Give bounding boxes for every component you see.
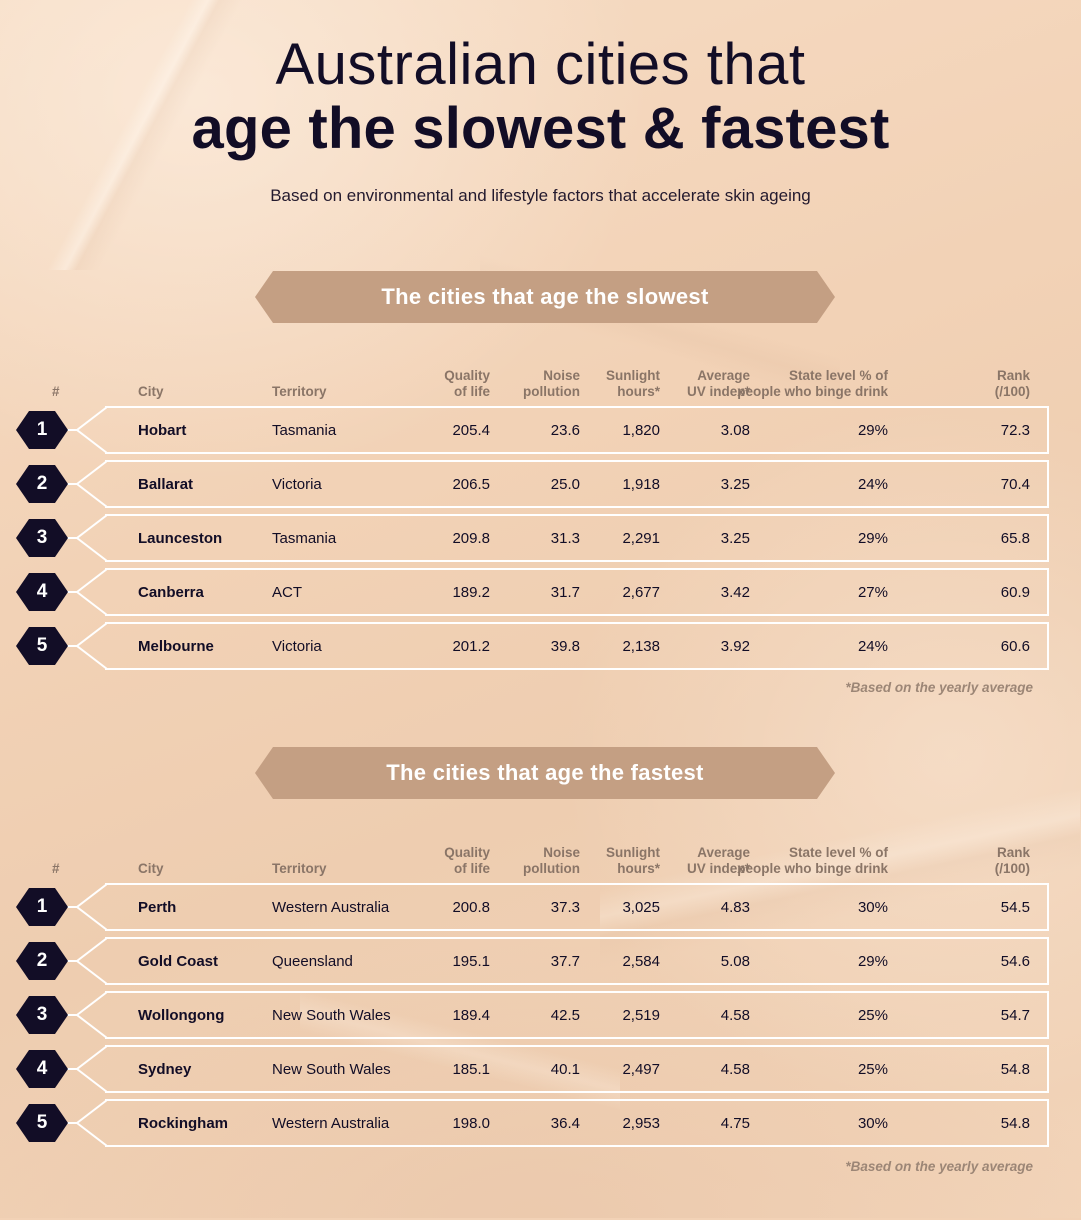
table-row[interactable]: 3WollongongNew South Wales189.442.52,519…	[0, 991, 1081, 1039]
cell-quality-of-life: 209.8	[400, 514, 490, 562]
cell-noise-pollution: 40.1	[490, 1045, 580, 1093]
cell-quality-of-life: 206.5	[400, 460, 490, 508]
cell-quality-of-life: 205.4	[400, 406, 490, 454]
column-header-binge-drink: State level % of people who binge drink	[730, 368, 888, 400]
cell-binge-drink: 25%	[760, 991, 888, 1039]
table-row[interactable]: 4SydneyNew South Wales185.140.12,4974.58…	[0, 1045, 1081, 1093]
cell-city: Canberra	[138, 568, 278, 616]
cell-rank-score: 65.8	[900, 514, 1030, 562]
cell-sunlight-hours: 2,519	[580, 991, 660, 1039]
column-header-sunlight-hours: Sunlight hours*	[580, 845, 660, 877]
cell-average-uv-index: 3.42	[662, 568, 750, 616]
row-chevron-icon	[75, 460, 107, 508]
table-row[interactable]: 5MelbourneVictoria201.239.82,1383.9224%6…	[0, 622, 1081, 670]
cell-sunlight-hours: 1,918	[580, 460, 660, 508]
cell-binge-drink: 29%	[760, 937, 888, 985]
cell-noise-pollution: 31.3	[490, 514, 580, 562]
cell-rank-score: 54.5	[900, 883, 1030, 931]
cell-sunlight-hours: 2,497	[580, 1045, 660, 1093]
column-header-binge-drink: State level % of people who binge drink	[730, 845, 888, 877]
column-header-rank-score: Rank (/100)	[900, 845, 1030, 877]
table-fastest: # City Territory Quality of life Noise p…	[0, 835, 1081, 1153]
row-chevron-icon	[75, 991, 107, 1039]
cell-sunlight-hours: 2,953	[580, 1099, 660, 1147]
column-header-city: City	[138, 384, 258, 400]
page-title: Australian cities that age the slowest &…	[0, 33, 1081, 161]
table-footnote: *Based on the yearly average	[845, 1159, 1033, 1174]
cell-noise-pollution: 23.6	[490, 406, 580, 454]
rank-badge: 5	[16, 1104, 68, 1142]
cell-city: Gold Coast	[138, 937, 278, 985]
cell-quality-of-life: 189.4	[400, 991, 490, 1039]
cell-noise-pollution: 36.4	[490, 1099, 580, 1147]
cell-average-uv-index: 4.58	[662, 1045, 750, 1093]
cell-rank-score: 72.3	[900, 406, 1030, 454]
cell-average-uv-index: 3.25	[662, 514, 750, 562]
table-row[interactable]: 5RockinghamWestern Australia198.036.42,9…	[0, 1099, 1081, 1147]
column-header-noise-pollution: Noise pollution	[490, 845, 580, 877]
table-row[interactable]: 1PerthWestern Australia200.837.33,0254.8…	[0, 883, 1081, 931]
cell-sunlight-hours: 1,820	[580, 406, 660, 454]
section-banner-label: The cities that age the fastest	[386, 760, 703, 786]
cell-average-uv-index: 5.08	[662, 937, 750, 985]
rank-badge: 4	[16, 573, 68, 611]
column-header-city: City	[138, 861, 258, 877]
cell-city: Perth	[138, 883, 278, 931]
rank-badge: 1	[16, 411, 68, 449]
cell-sunlight-hours: 2,291	[580, 514, 660, 562]
cell-sunlight-hours: 2,584	[580, 937, 660, 985]
cell-city: Launceston	[138, 514, 278, 562]
cell-noise-pollution: 25.0	[490, 460, 580, 508]
table-header-row: # City Territory Quality of life Noise p…	[0, 358, 1081, 400]
title-line-1: Australian cities that	[0, 33, 1081, 97]
cell-binge-drink: 24%	[760, 622, 888, 670]
row-chevron-icon	[75, 568, 107, 616]
section-banner-slowest: The cities that age the slowest	[255, 271, 835, 323]
row-chevron-icon	[75, 937, 107, 985]
rank-badge: 5	[16, 627, 68, 665]
cell-city: Wollongong	[138, 991, 278, 1039]
infographic: Australian cities that age the slowest &…	[0, 0, 1081, 1218]
cell-rank-score: 54.7	[900, 991, 1030, 1039]
section-banner-label: The cities that age the slowest	[381, 284, 708, 310]
row-chevron-icon	[75, 1045, 107, 1093]
column-header-rank: #	[52, 384, 82, 400]
table-row[interactable]: 1HobartTasmania205.423.61,8203.0829%72.3	[0, 406, 1081, 454]
table-row[interactable]: 3LauncestonTasmania209.831.32,2913.2529%…	[0, 514, 1081, 562]
cell-quality-of-life: 198.0	[400, 1099, 490, 1147]
cell-average-uv-index: 4.58	[662, 991, 750, 1039]
table-slowest: # City Territory Quality of life Noise p…	[0, 358, 1081, 676]
cell-quality-of-life: 200.8	[400, 883, 490, 931]
row-chevron-icon	[75, 406, 107, 454]
cell-sunlight-hours: 2,677	[580, 568, 660, 616]
cell-sunlight-hours: 2,138	[580, 622, 660, 670]
title-line-2: age the slowest & fastest	[0, 97, 1081, 161]
row-chevron-icon	[75, 622, 107, 670]
table-row[interactable]: 2Gold CoastQueensland195.137.72,5845.082…	[0, 937, 1081, 985]
rank-badge: 4	[16, 1050, 68, 1088]
column-header-rank-score: Rank (/100)	[900, 368, 1030, 400]
cell-binge-drink: 24%	[760, 460, 888, 508]
cell-quality-of-life: 185.1	[400, 1045, 490, 1093]
cell-average-uv-index: 4.75	[662, 1099, 750, 1147]
cell-city: Rockingham	[138, 1099, 278, 1147]
cell-rank-score: 70.4	[900, 460, 1030, 508]
row-chevron-icon	[75, 514, 107, 562]
cell-quality-of-life: 189.2	[400, 568, 490, 616]
rank-badge: 3	[16, 519, 68, 557]
cell-binge-drink: 27%	[760, 568, 888, 616]
cell-average-uv-index: 3.92	[662, 622, 750, 670]
cell-average-uv-index: 3.25	[662, 460, 750, 508]
cell-city: Sydney	[138, 1045, 278, 1093]
table-body: 1PerthWestern Australia200.837.33,0254.8…	[0, 883, 1081, 1147]
cell-noise-pollution: 37.3	[490, 883, 580, 931]
column-header-rank: #	[52, 861, 82, 877]
cell-rank-score: 60.6	[900, 622, 1030, 670]
rank-badge: 2	[16, 465, 68, 503]
rank-badge: 2	[16, 942, 68, 980]
row-chevron-icon	[75, 883, 107, 931]
cell-rank-score: 54.8	[900, 1045, 1030, 1093]
row-chevron-icon	[75, 1099, 107, 1147]
cell-sunlight-hours: 3,025	[580, 883, 660, 931]
column-header-noise-pollution: Noise pollution	[490, 368, 580, 400]
cell-quality-of-life: 201.2	[400, 622, 490, 670]
cell-average-uv-index: 4.83	[662, 883, 750, 931]
column-header-quality-of-life: Quality of life	[400, 845, 490, 877]
cell-binge-drink: 25%	[760, 1045, 888, 1093]
cell-city: Hobart	[138, 406, 278, 454]
cell-quality-of-life: 195.1	[400, 937, 490, 985]
cell-city: Ballarat	[138, 460, 278, 508]
table-row[interactable]: 2BallaratVictoria206.525.01,9183.2524%70…	[0, 460, 1081, 508]
table-row[interactable]: 4CanberraACT189.231.72,6773.4227%60.9	[0, 568, 1081, 616]
table-header-row: # City Territory Quality of life Noise p…	[0, 835, 1081, 877]
cell-rank-score: 60.9	[900, 568, 1030, 616]
cell-noise-pollution: 42.5	[490, 991, 580, 1039]
table-body: 1HobartTasmania205.423.61,8203.0829%72.3…	[0, 406, 1081, 670]
cell-noise-pollution: 37.7	[490, 937, 580, 985]
section-banner-fastest: The cities that age the fastest	[255, 747, 835, 799]
column-header-quality-of-life: Quality of life	[400, 368, 490, 400]
page-subtitle: Based on environmental and lifestyle fac…	[0, 186, 1081, 206]
cell-city: Melbourne	[138, 622, 278, 670]
rank-badge: 1	[16, 888, 68, 926]
cell-average-uv-index: 3.08	[662, 406, 750, 454]
cell-binge-drink: 30%	[760, 883, 888, 931]
table-footnote: *Based on the yearly average	[845, 680, 1033, 695]
cell-binge-drink: 29%	[760, 406, 888, 454]
cell-rank-score: 54.8	[900, 1099, 1030, 1147]
cell-binge-drink: 29%	[760, 514, 888, 562]
column-header-sunlight-hours: Sunlight hours*	[580, 368, 660, 400]
cell-binge-drink: 30%	[760, 1099, 888, 1147]
cell-rank-score: 54.6	[900, 937, 1030, 985]
cell-noise-pollution: 31.7	[490, 568, 580, 616]
rank-badge: 3	[16, 996, 68, 1034]
cell-noise-pollution: 39.8	[490, 622, 580, 670]
